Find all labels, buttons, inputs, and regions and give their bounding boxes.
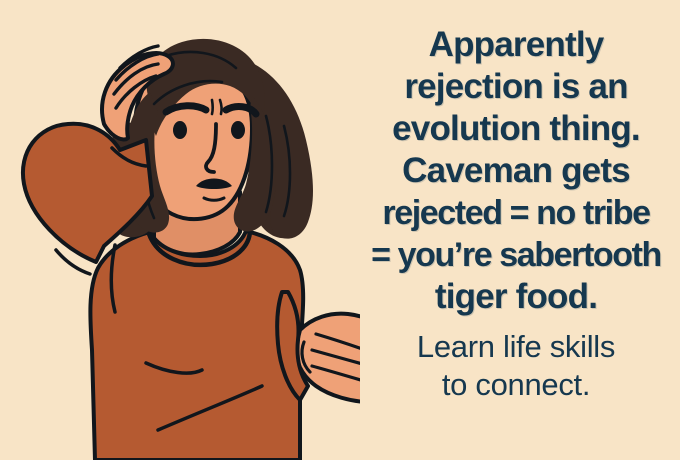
poster-root: Apparently rejection is an evolution thi… [0,0,680,460]
illustration-svg [0,0,360,460]
furrow-line-right [220,100,222,114]
illustration-worried-woman [0,0,360,460]
eye-left [173,121,187,139]
furrow-line-left [212,100,213,114]
eye-right [231,121,245,139]
